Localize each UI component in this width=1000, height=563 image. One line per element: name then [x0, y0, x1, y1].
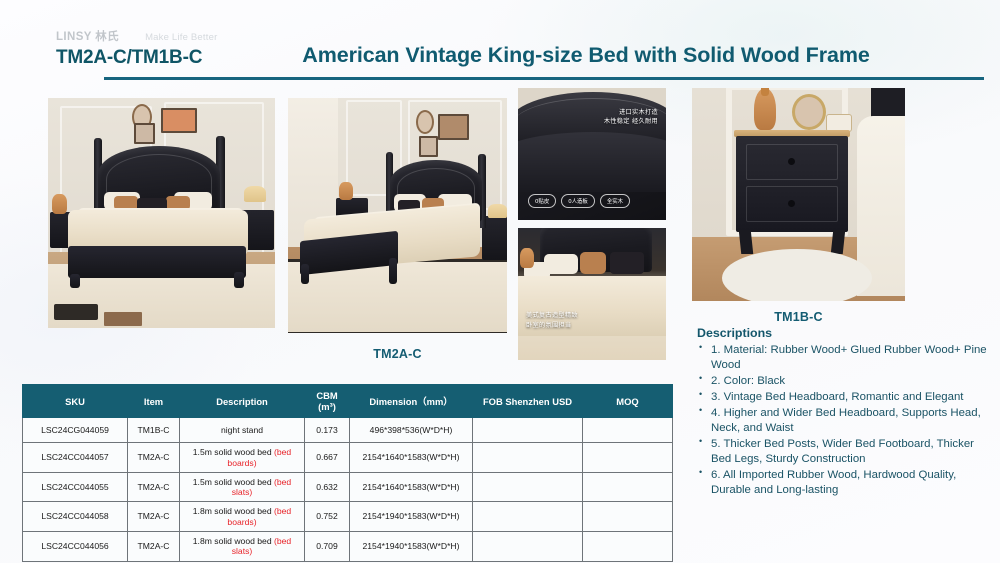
col-header-sku: SKU [23, 385, 128, 418]
cell-fob-price [473, 532, 583, 562]
wall-art-landscape [161, 108, 197, 133]
brand-tagline: Make Life Better [145, 32, 217, 43]
badge-all-solid-wood: 全实木 [600, 194, 630, 208]
cell-cbm: 0.752 [305, 502, 350, 532]
cbm-label: CBM [316, 390, 337, 401]
descriptions-list: 1. Material: Rubber Wood+ Glued Rubber W… [697, 343, 993, 498]
header-divider [104, 77, 984, 80]
table-row: LSC24CC044058TM2A-C1.8m solid wood bed (… [23, 502, 673, 532]
caption-bed: TM2A-C [290, 347, 505, 361]
cell-description: night stand [180, 418, 305, 443]
description-item: 3. Vintage Bed Headboard, Romantic and E… [697, 390, 993, 405]
cell-moq [583, 443, 673, 473]
description-note: (bed boards) [227, 506, 291, 526]
drawer-knob-bottom [788, 200, 795, 207]
description-note: (bed slats) [232, 477, 291, 497]
cell-sku: LSC24CG044059 [23, 418, 128, 443]
wall-art-small [134, 123, 155, 144]
cell-dimension: 496*398*536(W*D*H) [350, 418, 473, 443]
linsy-logo: LINSY 林氏 [56, 28, 119, 44]
cell-description: 1.8m solid wood bed (bed slats) [180, 532, 305, 562]
cell-fob-price [473, 418, 583, 443]
cell-sku: LSC24CC044056 [23, 532, 128, 562]
detail-photo-headboard: 进口实木打造 木性稳定 经久耐用 0贴皮 0人造板 全实木 [518, 88, 666, 220]
cbm-unit: (m³) [318, 401, 336, 412]
slide-canvas: LINSY 林氏 Make Life Better TM2A-C/TM1B-C … [0, 0, 1000, 563]
col-header-item: Item [128, 385, 180, 418]
cell-description: 1.5m solid wood bed (bed boards) [180, 443, 305, 473]
description-item: 6. All Imported Rubber Wood, Hardwood Qu… [697, 468, 993, 498]
badge-no-veneer: 0贴皮 [528, 194, 556, 208]
descriptions-heading: Descriptions [697, 326, 993, 340]
cell-cbm: 0.667 [305, 443, 350, 473]
cell-item: TM2A-C [128, 532, 180, 562]
cell-dimension: 2154*1640*1583(W*D*H) [350, 443, 473, 473]
table-row: LSC24CC044056TM2A-C1.8m solid wood bed (… [23, 532, 673, 562]
overlay-line-1: 美式复古造型精致 [526, 311, 578, 320]
spec-table: SKU Item Description CBM (m³) Dimension（… [22, 384, 673, 562]
cell-item: TM2A-C [128, 443, 180, 473]
feature-badges: 0贴皮 0人造板 全实木 [528, 194, 630, 208]
cell-description: 1.5m solid wood bed (bed slats) [180, 472, 305, 502]
overlay-line-2: 木性稳定 经久耐用 [604, 117, 658, 126]
drawer-knob-top [788, 158, 795, 165]
cell-moq [583, 472, 673, 502]
cell-sku: LSC24CC044055 [23, 472, 128, 502]
table-body: LSC24CG044059TM1B-Cnight stand0.173496*3… [23, 418, 673, 562]
wall-art-dog [438, 114, 469, 140]
table-row: LSC24CC044055TM2A-C1.5m solid wood bed (… [23, 472, 673, 502]
cell-cbm: 0.173 [305, 418, 350, 443]
cell-sku: LSC24CC044058 [23, 502, 128, 532]
product-photo-bed-angle [288, 98, 507, 333]
caption-nightstand: TM1B-C [692, 310, 905, 324]
product-photo-bed-main [48, 98, 275, 328]
detail-photo-bedding: 美式复古造型精致 卧室的氛围担当 [518, 228, 666, 360]
description-note: (bed slats) [232, 536, 291, 556]
col-header-description: Description [180, 385, 305, 418]
product-photo-nightstand [692, 88, 905, 301]
cell-item: TM2A-C [128, 502, 180, 532]
description-item: 5. Thicker Bed Posts, Wider Bed Footboar… [697, 437, 993, 467]
brand-watermark: LINSY 林氏 Make Life Better [56, 28, 286, 44]
description-item: 2. Color: Black [697, 374, 993, 389]
col-header-moq: MOQ [583, 385, 673, 418]
cell-sku: LSC24CC044057 [23, 443, 128, 473]
cell-cbm: 0.632 [305, 472, 350, 502]
cell-moq [583, 502, 673, 532]
cell-item: TM1B-C [128, 418, 180, 443]
cell-dimension: 2154*1940*1583(W*D*H) [350, 502, 473, 532]
overlay-line-1: 进口实木打造 [604, 108, 658, 117]
cell-fob-price [473, 502, 583, 532]
cell-cbm: 0.709 [305, 532, 350, 562]
overlay-line-2: 卧室的氛围担当 [526, 321, 578, 330]
badge-no-engineered-board: 0人造板 [561, 194, 595, 208]
col-header-fob: FOB Shenzhen USD [473, 385, 583, 418]
cell-fob-price [473, 443, 583, 473]
headboard-overlay-text: 进口实木打造 木性稳定 经久耐用 [604, 108, 658, 127]
cell-moq [583, 532, 673, 562]
table-header-row: SKU Item Description CBM (m³) Dimension（… [23, 385, 673, 418]
page-title: American Vintage King-size Bed with Soli… [236, 43, 936, 68]
cell-description: 1.8m solid wood bed (bed boards) [180, 502, 305, 532]
descriptions-block: Descriptions 1. Material: Rubber Wood+ G… [697, 326, 993, 499]
bedding-overlay-text: 美式复古造型精致 卧室的氛围担当 [526, 311, 578, 330]
col-header-cbm: CBM (m³) [305, 385, 350, 418]
table-row: LSC24CC044057TM2A-C1.5m solid wood bed (… [23, 443, 673, 473]
description-item: 4. Higher and Wider Bed Headboard, Suppo… [697, 406, 993, 436]
col-header-dimension: Dimension（mm） [350, 385, 473, 418]
wall-art-oval [416, 110, 434, 134]
table-frame [792, 94, 826, 130]
description-item: 1. Material: Rubber Wood+ Glued Rubber W… [697, 343, 993, 373]
description-note: (bed boards) [227, 447, 291, 467]
cell-fob-price [473, 472, 583, 502]
wall-art-small [419, 136, 438, 157]
cell-dimension: 2154*1940*1583(W*D*H) [350, 532, 473, 562]
cell-item: TM2A-C [128, 472, 180, 502]
cell-moq [583, 418, 673, 443]
cell-dimension: 2154*1640*1583(W*D*H) [350, 472, 473, 502]
table-row: LSC24CG044059TM1B-Cnight stand0.173496*3… [23, 418, 673, 443]
